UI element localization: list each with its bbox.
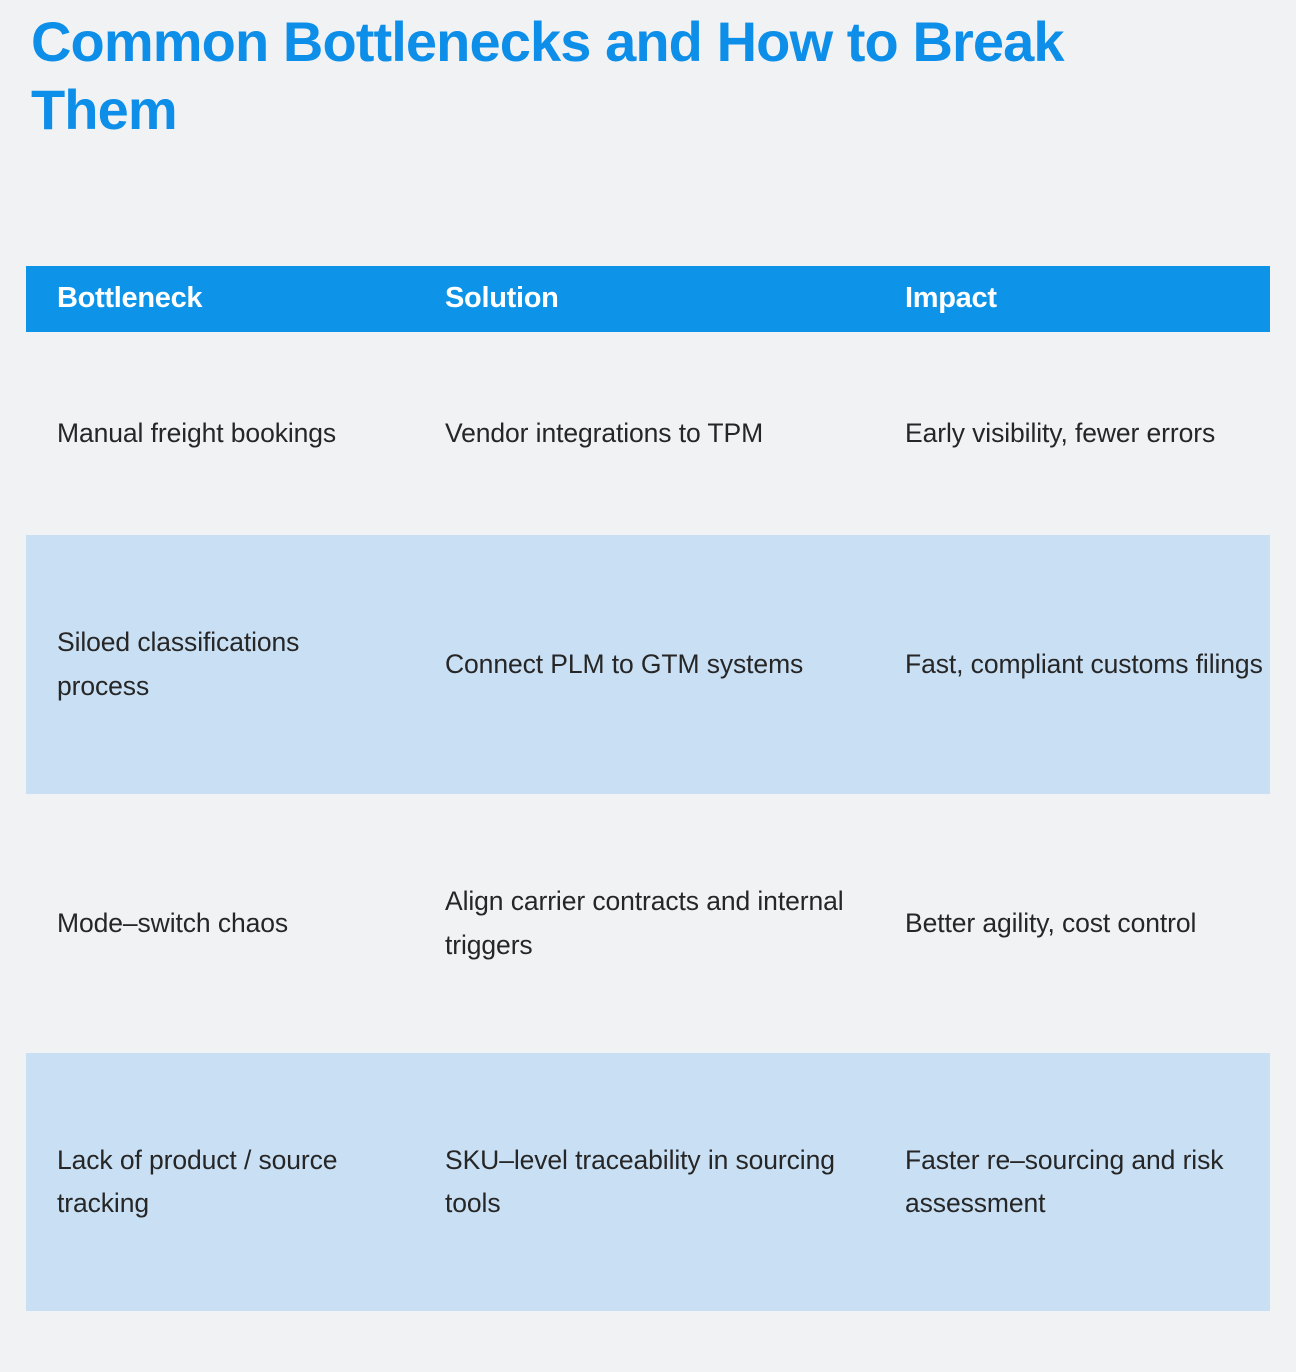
cell-bottleneck: Lack of product / source tracking — [26, 1139, 415, 1225]
column-header-bottleneck: Bottleneck — [26, 283, 415, 315]
page-root: Common Bottlenecks and How to Break Them… — [0, 0, 1296, 1372]
cell-bottleneck: Siloed classifications process — [26, 621, 415, 707]
column-header-impact: Impact — [875, 283, 1270, 315]
column-header-solution: Solution — [415, 283, 875, 315]
cell-impact: Fast, compliant customs filings — [875, 643, 1270, 686]
cell-impact: Early visibility, fewer errors — [875, 412, 1270, 455]
cell-bottleneck: Manual freight bookings — [26, 412, 415, 455]
cell-solution: Align carrier contracts and internal tri… — [415, 880, 875, 966]
table-row: Lack of product / source tracking SKU–le… — [26, 1053, 1270, 1311]
page-title: Common Bottlenecks and How to Break Them — [31, 8, 1161, 145]
table-row: Siloed classifications process Connect P… — [26, 535, 1270, 794]
cell-solution: SKU–level traceability in sourcing tools — [415, 1139, 875, 1225]
table-row: Mode–switch chaos Align carrier contract… — [26, 794, 1270, 1053]
table-header-row: Bottleneck Solution Impact — [26, 266, 1270, 332]
bottleneck-table: Bottleneck Solution Impact Manual freigh… — [26, 266, 1270, 1311]
cell-solution: Vendor integrations to TPM — [415, 412, 875, 455]
cell-bottleneck: Mode–switch chaos — [26, 902, 415, 945]
table-row: Manual freight bookings Vendor integrati… — [26, 332, 1270, 535]
cell-impact: Faster re–sourcing and risk assessment — [875, 1139, 1270, 1225]
cell-impact: Better agility, cost control — [875, 902, 1270, 945]
cell-solution: Connect PLM to GTM systems — [415, 643, 875, 686]
